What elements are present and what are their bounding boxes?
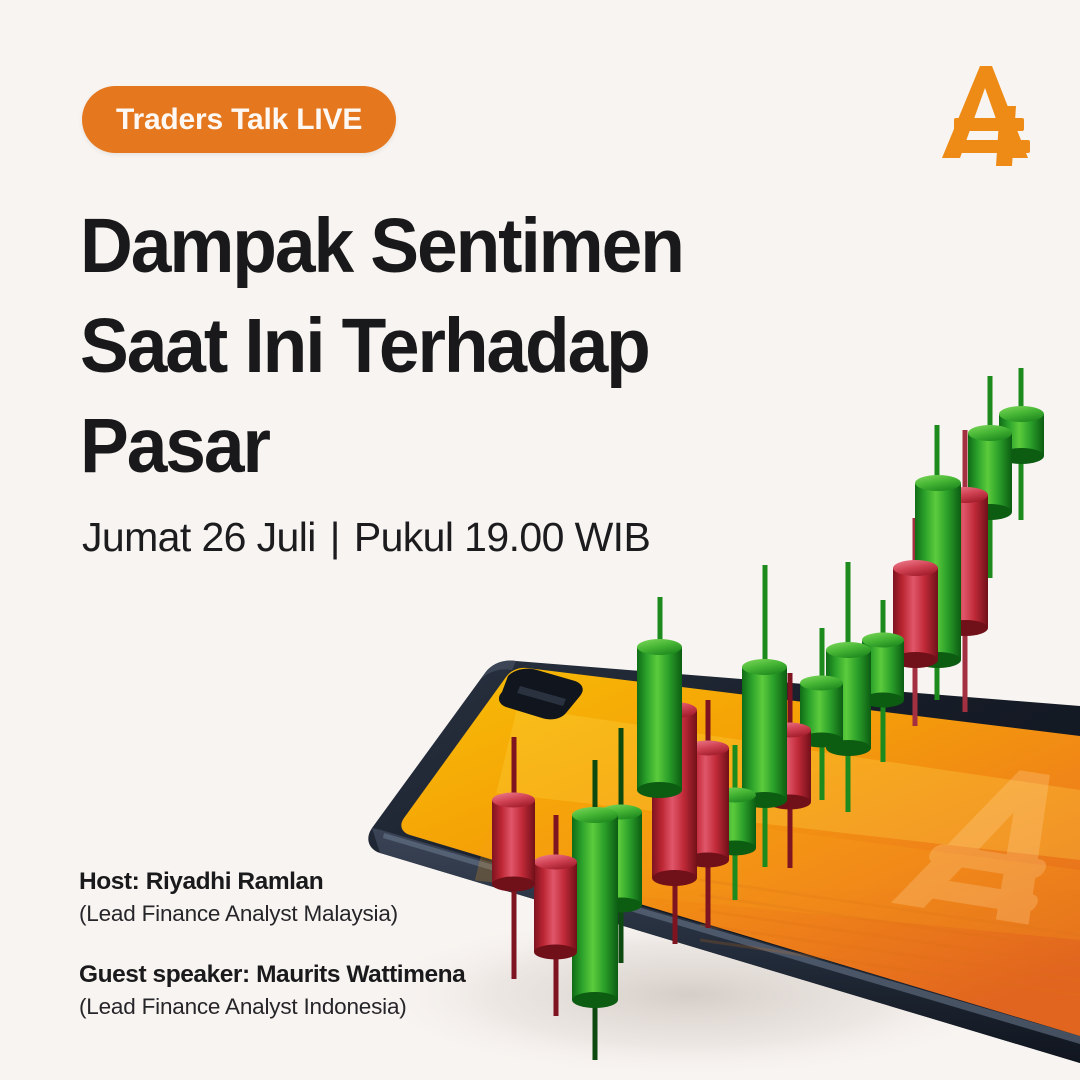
headline-line-2: Saat Ini Terhadap xyxy=(80,296,802,396)
speaker-credits: Host: Riyadhi Ramlan (Lead Finance Analy… xyxy=(79,866,549,1022)
datetime-separator: | xyxy=(316,511,354,563)
event-time: Pukul 19.00 WIB xyxy=(354,511,650,563)
promo-poster: Traders Talk LIVE Dampak Sentimen Saat I… xyxy=(0,0,1080,1080)
host-name: Host: Riyadhi Ramlan xyxy=(79,866,549,898)
headline-line-3: Pasar xyxy=(80,396,802,496)
event-date: Jumat 26 Juli xyxy=(82,511,316,563)
event-datetime: Jumat 26 Juli | Pukul 19.00 WIB xyxy=(82,511,650,563)
letter-a-logo-icon xyxy=(936,62,1032,166)
headline-line-1: Dampak Sentimen xyxy=(80,196,802,296)
guest-speaker-name: Guest speaker: Maurits Wattimena xyxy=(79,959,549,991)
guest-speaker-credit: Guest speaker: Maurits Wattimena (Lead F… xyxy=(79,959,549,1022)
host-credit: Host: Riyadhi Ramlan (Lead Finance Analy… xyxy=(79,866,549,929)
host-role: (Lead Finance Analyst Malaysia) xyxy=(79,898,549,929)
page-title: Dampak Sentimen Saat Ini Terhadap Pasar xyxy=(80,196,840,496)
traders-talk-live-badge: Traders Talk LIVE xyxy=(82,86,396,153)
badge-label: Traders Talk LIVE xyxy=(116,103,362,137)
guest-speaker-role: (Lead Finance Analyst Indonesia) xyxy=(79,991,549,1022)
